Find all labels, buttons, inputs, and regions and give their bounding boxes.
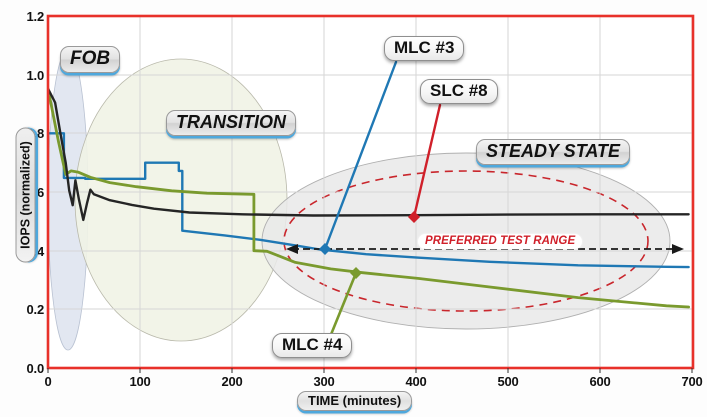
x-tick-5: 500 xyxy=(478,374,538,389)
chart-root: 1.2 1.0 0.8 0.6 0.4 0.2 0.0 0 100 200 30… xyxy=(0,0,707,417)
callout-label-mlc3: MLC #3 xyxy=(384,36,464,61)
region-label-steady-state: STEADY STATE xyxy=(476,139,630,165)
callout-label-slc8: SLC #8 xyxy=(420,79,498,104)
callout-label-mlc4: MLC #4 xyxy=(272,333,352,358)
preferred-test-range-label: PREFERRED TEST RANGE xyxy=(418,234,582,249)
y-tick-5: 0.2 xyxy=(4,302,44,317)
x-tick-0: 0 xyxy=(18,374,78,389)
x-tick-6: 600 xyxy=(570,374,630,389)
x-tick-2: 200 xyxy=(202,374,262,389)
x-tick-1: 100 xyxy=(110,374,170,389)
region-label-transition: TRANSITION xyxy=(166,110,296,136)
y-tick-1: 1.0 xyxy=(4,68,44,83)
region-label-fob: FOB xyxy=(60,46,120,73)
x-tick-7: 700 xyxy=(662,374,707,389)
y-tick-0: 1.2 xyxy=(4,9,44,24)
x-tick-4: 400 xyxy=(386,374,446,389)
y-axis-title: IOPS (normalized) xyxy=(16,128,36,263)
x-axis-title: TIME (minutes) xyxy=(297,391,412,411)
x-tick-3: 300 xyxy=(294,374,354,389)
